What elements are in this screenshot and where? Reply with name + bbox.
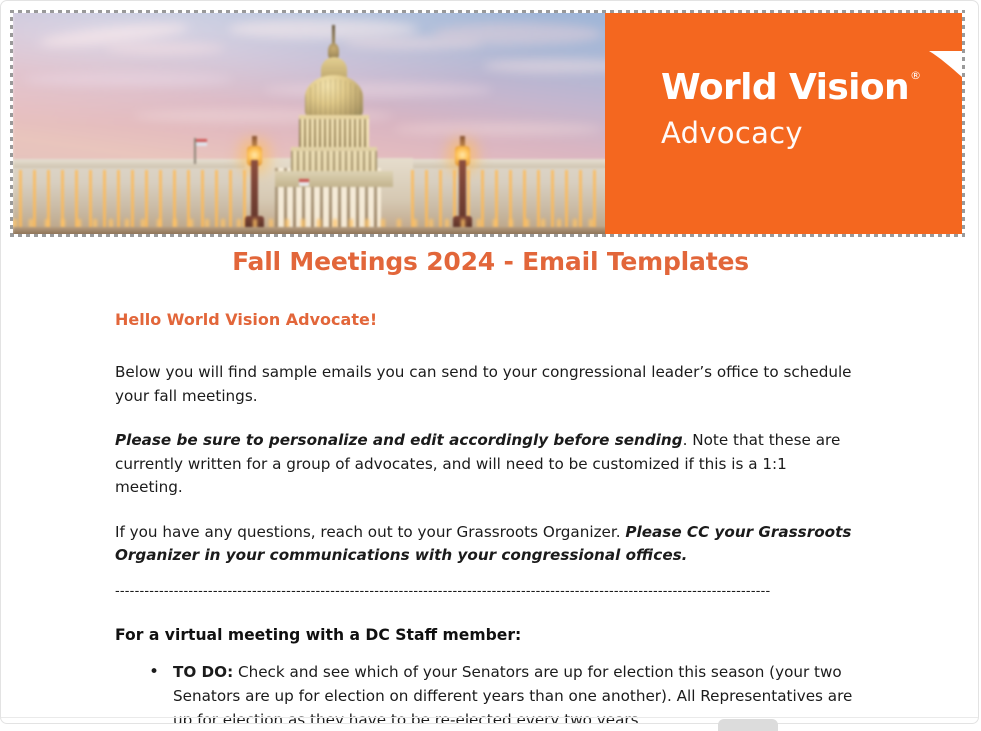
personalize-emphasis: Please be sure to personalize and edit a…	[115, 431, 683, 449]
section-heading-virtual-meeting: For a virtual meeting with a DC Staff me…	[115, 624, 979, 646]
intro-paragraph: Below you will find sample emails you ca…	[115, 361, 857, 408]
street-lamp	[241, 136, 267, 232]
world-vision-star-mark-icon	[927, 47, 962, 103]
registered-trademark-icon: ®	[910, 69, 921, 83]
capitol-photo	[13, 13, 605, 234]
cloud	[23, 73, 233, 86]
dome-ribs	[305, 79, 363, 119]
logo-lockup: World Vision ® Advocacy	[661, 69, 931, 149]
todo-text: Check and see which of your Senators are…	[173, 663, 852, 725]
greeting-line: Hello World Vision Advocate!	[115, 309, 979, 331]
cloud	[105, 43, 225, 54]
cloud	[433, 23, 603, 45]
organizer-plain: If you have any questions, reach out to …	[115, 523, 625, 541]
capitol-dome	[269, 25, 401, 185]
capitol-right-roofline	[405, 159, 605, 168]
organizer-paragraph: If you have any questions, reach out to …	[115, 521, 857, 568]
floating-bottom-handle[interactable]	[718, 719, 778, 731]
banner-image-object[interactable]: World Vision ® Advocacy	[10, 10, 965, 237]
page-bottom-rule	[1, 717, 979, 718]
brand-name: World Vision	[661, 69, 909, 107]
document-body: Fall Meetings 2024 - Email Templates Hel…	[1, 245, 979, 724]
street-lamp	[449, 136, 475, 232]
capitol-pediment	[275, 171, 393, 187]
bullet-icon: •	[149, 660, 159, 684]
ground	[13, 227, 605, 234]
us-flag	[299, 179, 309, 186]
world-vision-logo-panel: World Vision ® Advocacy	[605, 13, 962, 234]
flag	[196, 139, 207, 146]
personalize-paragraph: Please be sure to personalize and edit a…	[115, 429, 857, 500]
page-title: Fall Meetings 2024 - Email Templates	[1, 245, 979, 279]
dome-base-columns	[291, 151, 377, 173]
cloud	[393, 123, 603, 135]
todo-label: TO DO:	[173, 663, 233, 681]
brand-subtitle: Advocacy	[661, 117, 931, 149]
dome-colonnade	[299, 119, 369, 147]
brand-line: World Vision ®	[661, 69, 931, 107]
list-item: • TO DO: Check and see which of your Sen…	[173, 660, 855, 725]
banner-content: World Vision ® Advocacy	[13, 13, 962, 234]
dashed-divider: ----------------------------------------…	[115, 584, 863, 600]
capitol-left-roofline	[13, 159, 263, 168]
document-page: World Vision ® Advocacy Fall Meetin	[0, 0, 979, 724]
